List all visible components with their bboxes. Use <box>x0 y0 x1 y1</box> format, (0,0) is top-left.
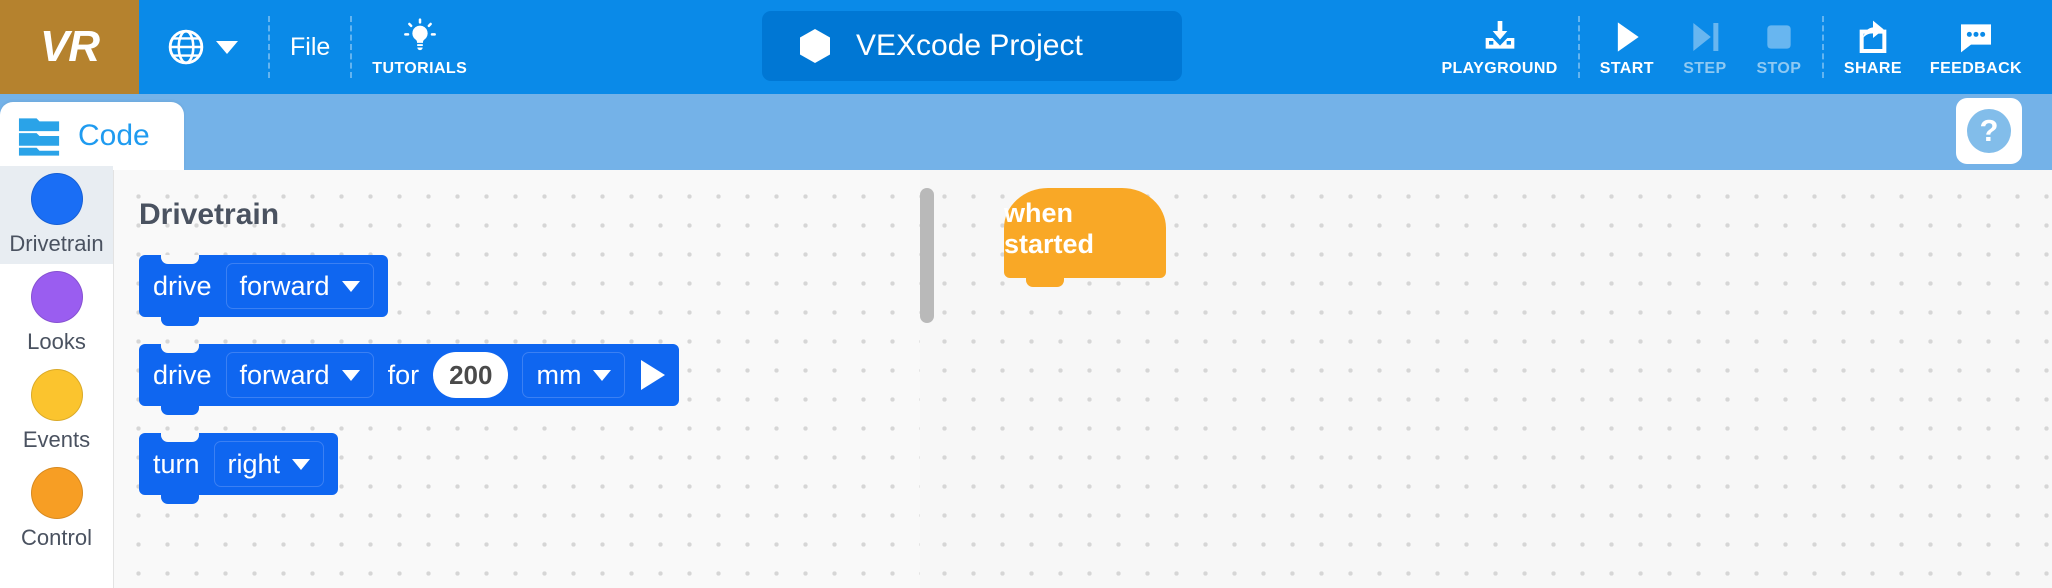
sidebar-item-label: Control <box>21 525 92 551</box>
tutorials-label: TUTORIALS <box>372 60 467 78</box>
unit-dropdown[interactable]: mm <box>522 352 625 398</box>
sidebar-item-control[interactable]: Control <box>0 460 113 558</box>
chevron-down-icon <box>342 281 360 292</box>
chevron-down-icon <box>593 370 611 381</box>
sidebar-item-drivetrain[interactable]: Drivetrain <box>0 166 113 264</box>
direction-value: forward <box>240 271 330 302</box>
sidebar-item-events[interactable]: Events <box>0 362 113 460</box>
tab-code[interactable]: Code <box>0 102 184 170</box>
turn-direction-value: right <box>228 449 281 480</box>
blocks-icon <box>17 116 64 156</box>
block-when-started[interactable]: when started <box>1004 188 1166 278</box>
tab-code-label: Code <box>78 119 150 153</box>
toolbar-divider <box>350 16 352 78</box>
sidebar-item-looks[interactable]: Looks <box>0 264 113 362</box>
toolbar-divider <box>1578 16 1580 78</box>
block-label: drive <box>153 360 212 391</box>
chevron-down-icon <box>216 41 238 54</box>
code-workspace[interactable]: when started <box>920 170 2052 588</box>
sidebar-item-label: Events <box>23 427 90 453</box>
step-button[interactable]: STEP <box>1668 0 1742 94</box>
stop-icon <box>1756 17 1802 57</box>
turn-direction-dropdown[interactable]: right <box>214 441 325 487</box>
language-selector[interactable] <box>139 0 262 94</box>
playground-button[interactable]: PLAYGROUND <box>1427 0 1571 94</box>
category-sidebar: Drivetrain Looks Events Control <box>0 170 113 588</box>
comment-icon <box>1952 17 2000 57</box>
vr-logo: VR <box>0 0 139 94</box>
for-label: for <box>388 360 420 391</box>
drivetrain-color-dot <box>31 173 83 225</box>
start-button[interactable]: START <box>1586 0 1668 94</box>
direction-dropdown[interactable]: forward <box>226 352 374 398</box>
globe-icon <box>167 28 205 66</box>
feedback-label: FEEDBACK <box>1930 60 2022 78</box>
feedback-button[interactable]: FEEDBACK <box>1916 0 2036 94</box>
stop-label: STOP <box>1756 60 1801 78</box>
share-button[interactable]: SHARE <box>1830 0 1916 94</box>
block-label: drive <box>153 271 212 302</box>
events-color-dot <box>31 369 83 421</box>
block-drive-forward[interactable]: drive forward <box>139 255 388 317</box>
step-icon <box>1682 17 1728 57</box>
share-icon <box>1850 17 1896 57</box>
lightbulb-icon <box>398 17 442 57</box>
chevron-down-icon <box>292 459 310 470</box>
step-label: STEP <box>1683 60 1726 78</box>
help-button[interactable]: ? <box>1956 98 2022 164</box>
control-color-dot <box>31 467 83 519</box>
stop-button[interactable]: STOP <box>1742 0 1816 94</box>
file-menu-button[interactable]: File <box>276 0 344 94</box>
sidebar-item-label: Drivetrain <box>9 231 103 257</box>
looks-color-dot <box>31 271 83 323</box>
project-name-field[interactable]: VEXcode Project <box>762 11 1182 81</box>
block-drive-forward-for[interactable]: drive forward for 200 mm <box>139 344 679 406</box>
block-turn-right[interactable]: turn right <box>139 433 338 495</box>
tutorials-button[interactable]: TUTORIALS <box>358 0 481 94</box>
toolbar-actions: PLAYGROUND START STEP STOP <box>1427 0 2052 94</box>
share-label: SHARE <box>1844 60 1902 78</box>
block-label: turn <box>153 449 200 480</box>
block-palette[interactable]: Drivetrain drive forward drive forward f… <box>113 170 920 588</box>
workspace-scrollbar[interactable] <box>920 188 934 323</box>
when-started-label: when started <box>1004 198 1166 260</box>
distance-input[interactable]: 200 <box>433 352 508 398</box>
hat-block-nub <box>1026 278 1064 287</box>
direction-value: forward <box>240 360 330 391</box>
play-icon <box>1604 17 1650 57</box>
playground-download-icon <box>1476 17 1524 57</box>
secondary-tab-bar: Code ? <box>0 94 2052 170</box>
project-name-text: VEXcode Project <box>856 29 1083 63</box>
sidebar-item-label: Looks <box>27 329 86 355</box>
question-mark-icon: ? <box>1967 109 2011 153</box>
toolbar-divider <box>1822 16 1824 78</box>
playground-label: PLAYGROUND <box>1441 60 1557 78</box>
main-area: Drivetrain Looks Events Control Drivetra… <box>0 170 2052 588</box>
unit-value: mm <box>536 360 581 391</box>
direction-dropdown[interactable]: forward <box>226 263 374 309</box>
vr-logo-text: VR <box>40 22 99 72</box>
start-label: START <box>1600 60 1654 78</box>
file-menu-label: File <box>290 33 330 62</box>
chevron-down-icon <box>342 370 360 381</box>
top-toolbar: VR File TUTORIALS <box>0 0 2052 94</box>
run-block-play-icon[interactable] <box>641 360 665 390</box>
hexagon-icon <box>800 29 830 63</box>
toolbar-divider <box>268 16 270 78</box>
palette-category-title: Drivetrain <box>139 198 279 232</box>
